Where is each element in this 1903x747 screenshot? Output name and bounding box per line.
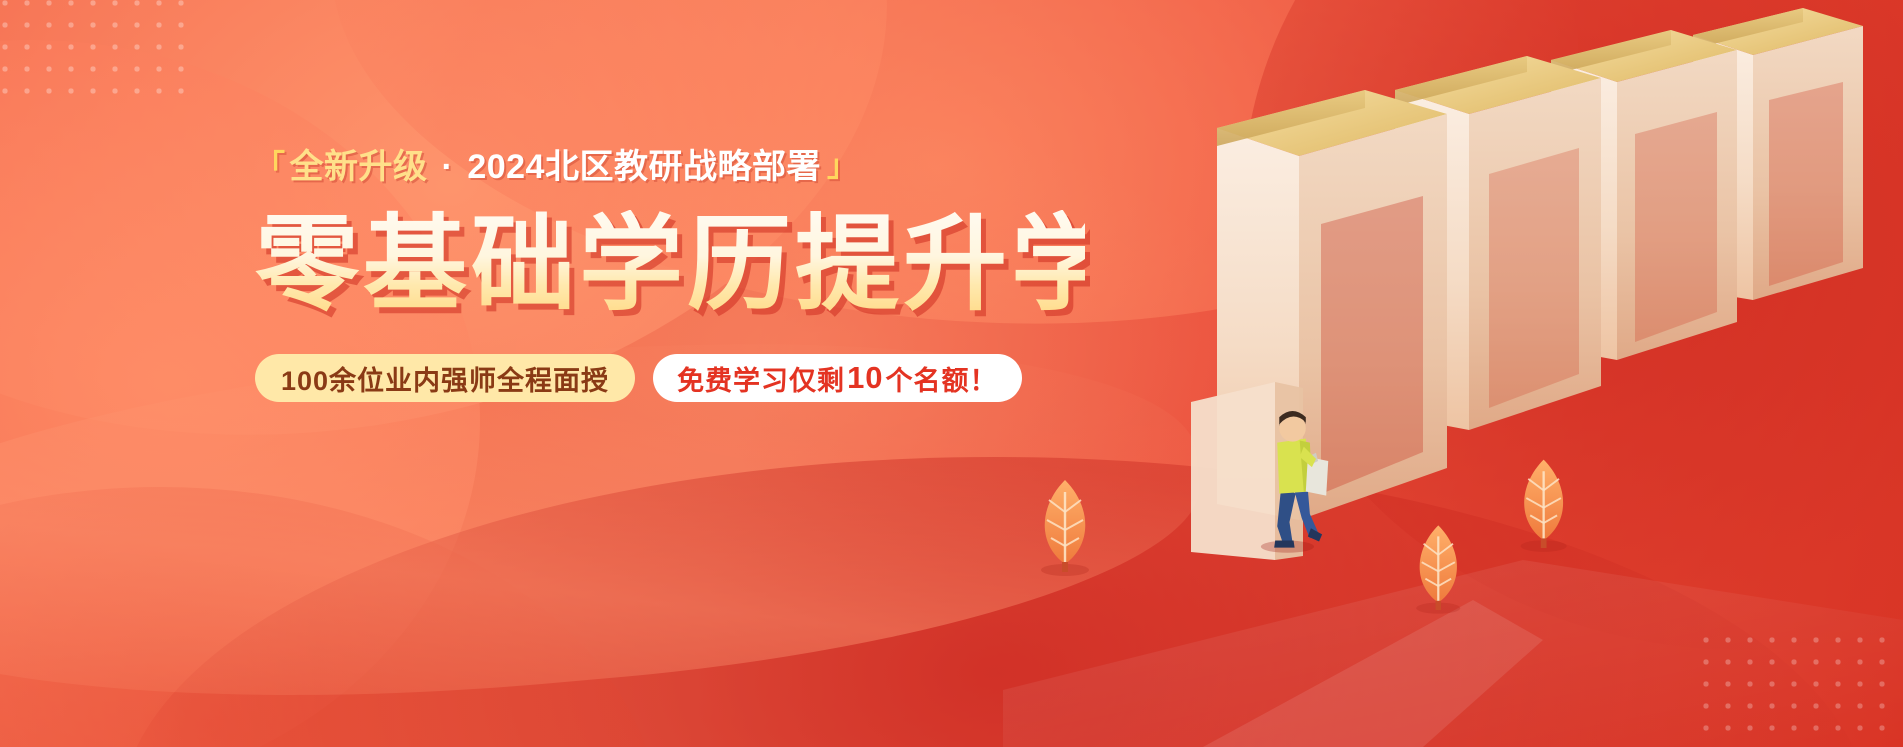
ground-sweep: [1003, 560, 1903, 747]
student-figure-icon: [1261, 411, 1328, 553]
book-arch-2: [1395, 56, 1601, 430]
banner-text-block: 「 全新升级 · 2024北区教研战略部署 」 零基础学历提升学霸班 100余位…: [255, 150, 1085, 402]
dot-pattern-top-left: [0, 0, 194, 104]
book-arch-4: [1693, 8, 1863, 300]
book-arch-3: [1551, 30, 1737, 360]
page-title: 零基础学历提升学霸班: [255, 210, 1085, 320]
background-blob-bottom-left: [0, 487, 660, 747]
dot-pattern-bottom-right: [1695, 629, 1895, 741]
book-arch-illustration: [1003, 0, 1903, 747]
kicker-rest: 2024北区教研战略部署: [467, 150, 821, 184]
badge-seats-number: 10: [845, 360, 885, 396]
kicker-separator-icon: ·: [442, 150, 454, 184]
bracket-close-icon: 」: [827, 152, 858, 182]
tree-icon-left: [1041, 480, 1089, 576]
badge-row: 100余位业内强师全程面授 免费学习仅剩 10 个名额！: [255, 354, 1085, 402]
ground-highlight: [1203, 600, 1543, 747]
tree-icon-center: [1416, 525, 1460, 613]
banner-kicker: 「 全新升级 · 2024北区教研战略部署 」: [255, 150, 1085, 184]
badge-seats-prefix: 免费学习仅剩: [677, 359, 845, 398]
kicker-highlight: 全新升级: [290, 150, 428, 184]
badge-seats-suffix: 个名额！: [886, 359, 998, 398]
badge-seats-remaining[interactable]: 免费学习仅剩 10 个名额！: [653, 354, 1021, 402]
book-arch-1: [1191, 90, 1447, 560]
background-blob-right-dark: [1243, 0, 1903, 650]
badge-instructors: 100余位业内强师全程面授: [255, 354, 635, 402]
bracket-open-icon: 「: [255, 152, 286, 182]
promo-banner: 「 全新升级 · 2024北区教研战略部署 」 零基础学历提升学霸班 100余位…: [0, 0, 1903, 747]
background-blob-bottom-dark: [120, 457, 1870, 747]
tree-icon-right: [1521, 460, 1567, 552]
